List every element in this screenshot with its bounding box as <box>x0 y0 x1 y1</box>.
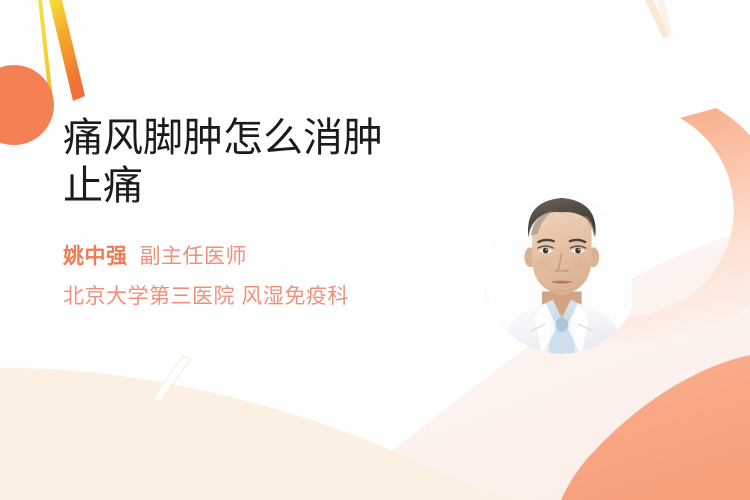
cream-wave-bottom-left <box>0 368 520 500</box>
doctor-byline: 姚中强副主任医师 <box>63 241 423 273</box>
orange-circle-left <box>0 65 54 145</box>
gradient-stripes-top-left <box>38 0 85 108</box>
thin-yellow-stripe <box>38 0 54 108</box>
doctor-title: 副主任医师 <box>140 245 248 268</box>
doctor-affiliation: 北京大学第三医院 风湿免疫科 <box>63 281 423 313</box>
doctor-name: 姚中强 <box>63 245 128 268</box>
doctor-portrait-group <box>452 100 632 375</box>
doctor-portrait-figure <box>452 100 632 375</box>
video-cover-card: 痛风脚肿怎么消肿 止痛 姚中强副主任医师 北京大学第三医院 风湿免疫科 <box>0 0 750 500</box>
thick-gradient-stripe <box>49 0 85 101</box>
outlined-stripe-bottom-left <box>152 356 191 402</box>
page-title: 痛风脚肿怎么消肿 止痛 <box>63 114 423 210</box>
cream-stripes-top-right <box>645 0 672 38</box>
text-content-block: 痛风脚肿怎么消肿 止痛 姚中强副主任医师 北京大学第三医院 风湿免疫科 <box>63 114 423 313</box>
peach-blob-bottom-right <box>561 355 750 500</box>
portrait-photo <box>479 193 632 366</box>
